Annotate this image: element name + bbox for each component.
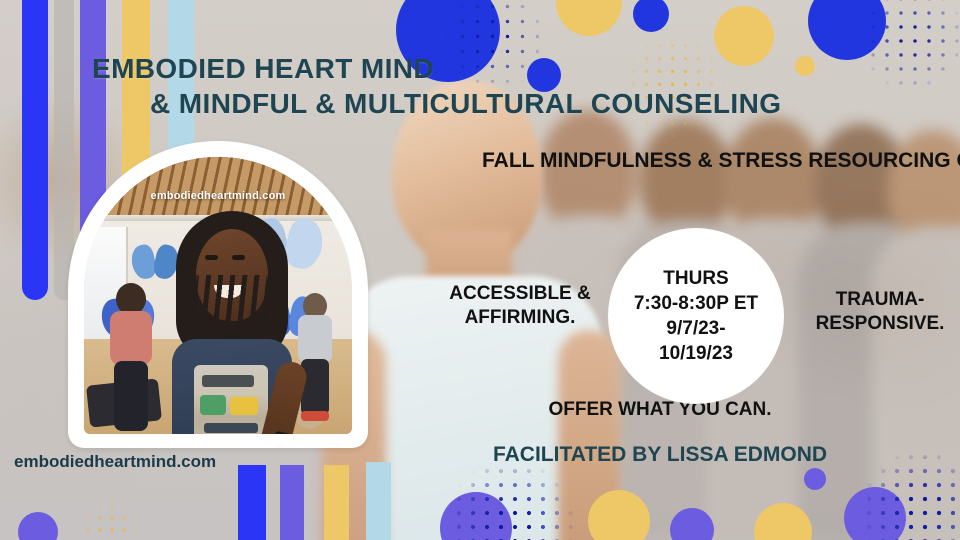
tagline-trauma-responsive: TRAUMA- RESPONSIVE. xyxy=(800,288,960,337)
stripe-lightblue-bottom xyxy=(366,462,391,540)
page-title-line-2: & MINDFUL & MULTICULTURAL COUNSELING xyxy=(150,88,781,120)
schedule-day: THURS xyxy=(663,266,728,291)
subheading: FALL MINDFULNESS & STRESS RESOURCING GRO… xyxy=(482,148,842,175)
stripe-yellow-bottom xyxy=(324,465,349,540)
stripe-blue-top-left xyxy=(22,0,48,300)
pricing-note: OFFER WHAT YOU CAN. xyxy=(490,398,830,422)
dot-cluster-navy-top-right xyxy=(852,0,960,98)
dot-cluster-navy-bottom-right xyxy=(862,450,960,540)
decor-circle-purple-bottom-3 xyxy=(804,468,826,490)
facilitator-photo-card: embodiedheartmind.com xyxy=(68,141,368,448)
facilitator-credit: FACILITATED BY LISSA EDMOND xyxy=(470,443,850,467)
schedule-start-date: 9/7/23- xyxy=(666,316,725,341)
photo-background-person-left xyxy=(102,283,160,433)
schedule-time: 7:30-8:30P ET xyxy=(634,291,758,316)
dot-cluster-navy-bottom-left xyxy=(452,464,582,540)
schedule-end-date: 10/19/23 xyxy=(659,341,733,366)
dot-cluster-navy-top-left xyxy=(440,0,550,94)
stripe-purple-bottom xyxy=(280,465,304,540)
dot-cluster-yellow-top-mid xyxy=(614,26,734,146)
photo-watermark: embodiedheartmind.com xyxy=(84,190,352,202)
website-url: embodiedheartmind.com xyxy=(14,452,216,472)
schedule-badge: THURS 7:30-8:30P ET 9/7/23- 10/19/23 xyxy=(608,228,784,404)
facilitator-photo: embodiedheartmind.com xyxy=(84,157,352,434)
tagline-accessible: ACCESSIBLE & AFFIRMING. xyxy=(430,282,610,331)
stripe-blue-bottom xyxy=(238,465,266,540)
page-title-line-1: EMBODIED HEART MIND xyxy=(92,53,434,85)
dot-cluster-yellow-bottom-left xyxy=(70,500,150,540)
stripe-gray-top-left xyxy=(54,0,74,300)
poster-canvas: embodiedheartmind.com EMBODIED HEART MIN… xyxy=(0,0,960,540)
decor-circle-yellow-top-3 xyxy=(795,56,815,76)
photo-facilitator-figure xyxy=(170,211,294,434)
